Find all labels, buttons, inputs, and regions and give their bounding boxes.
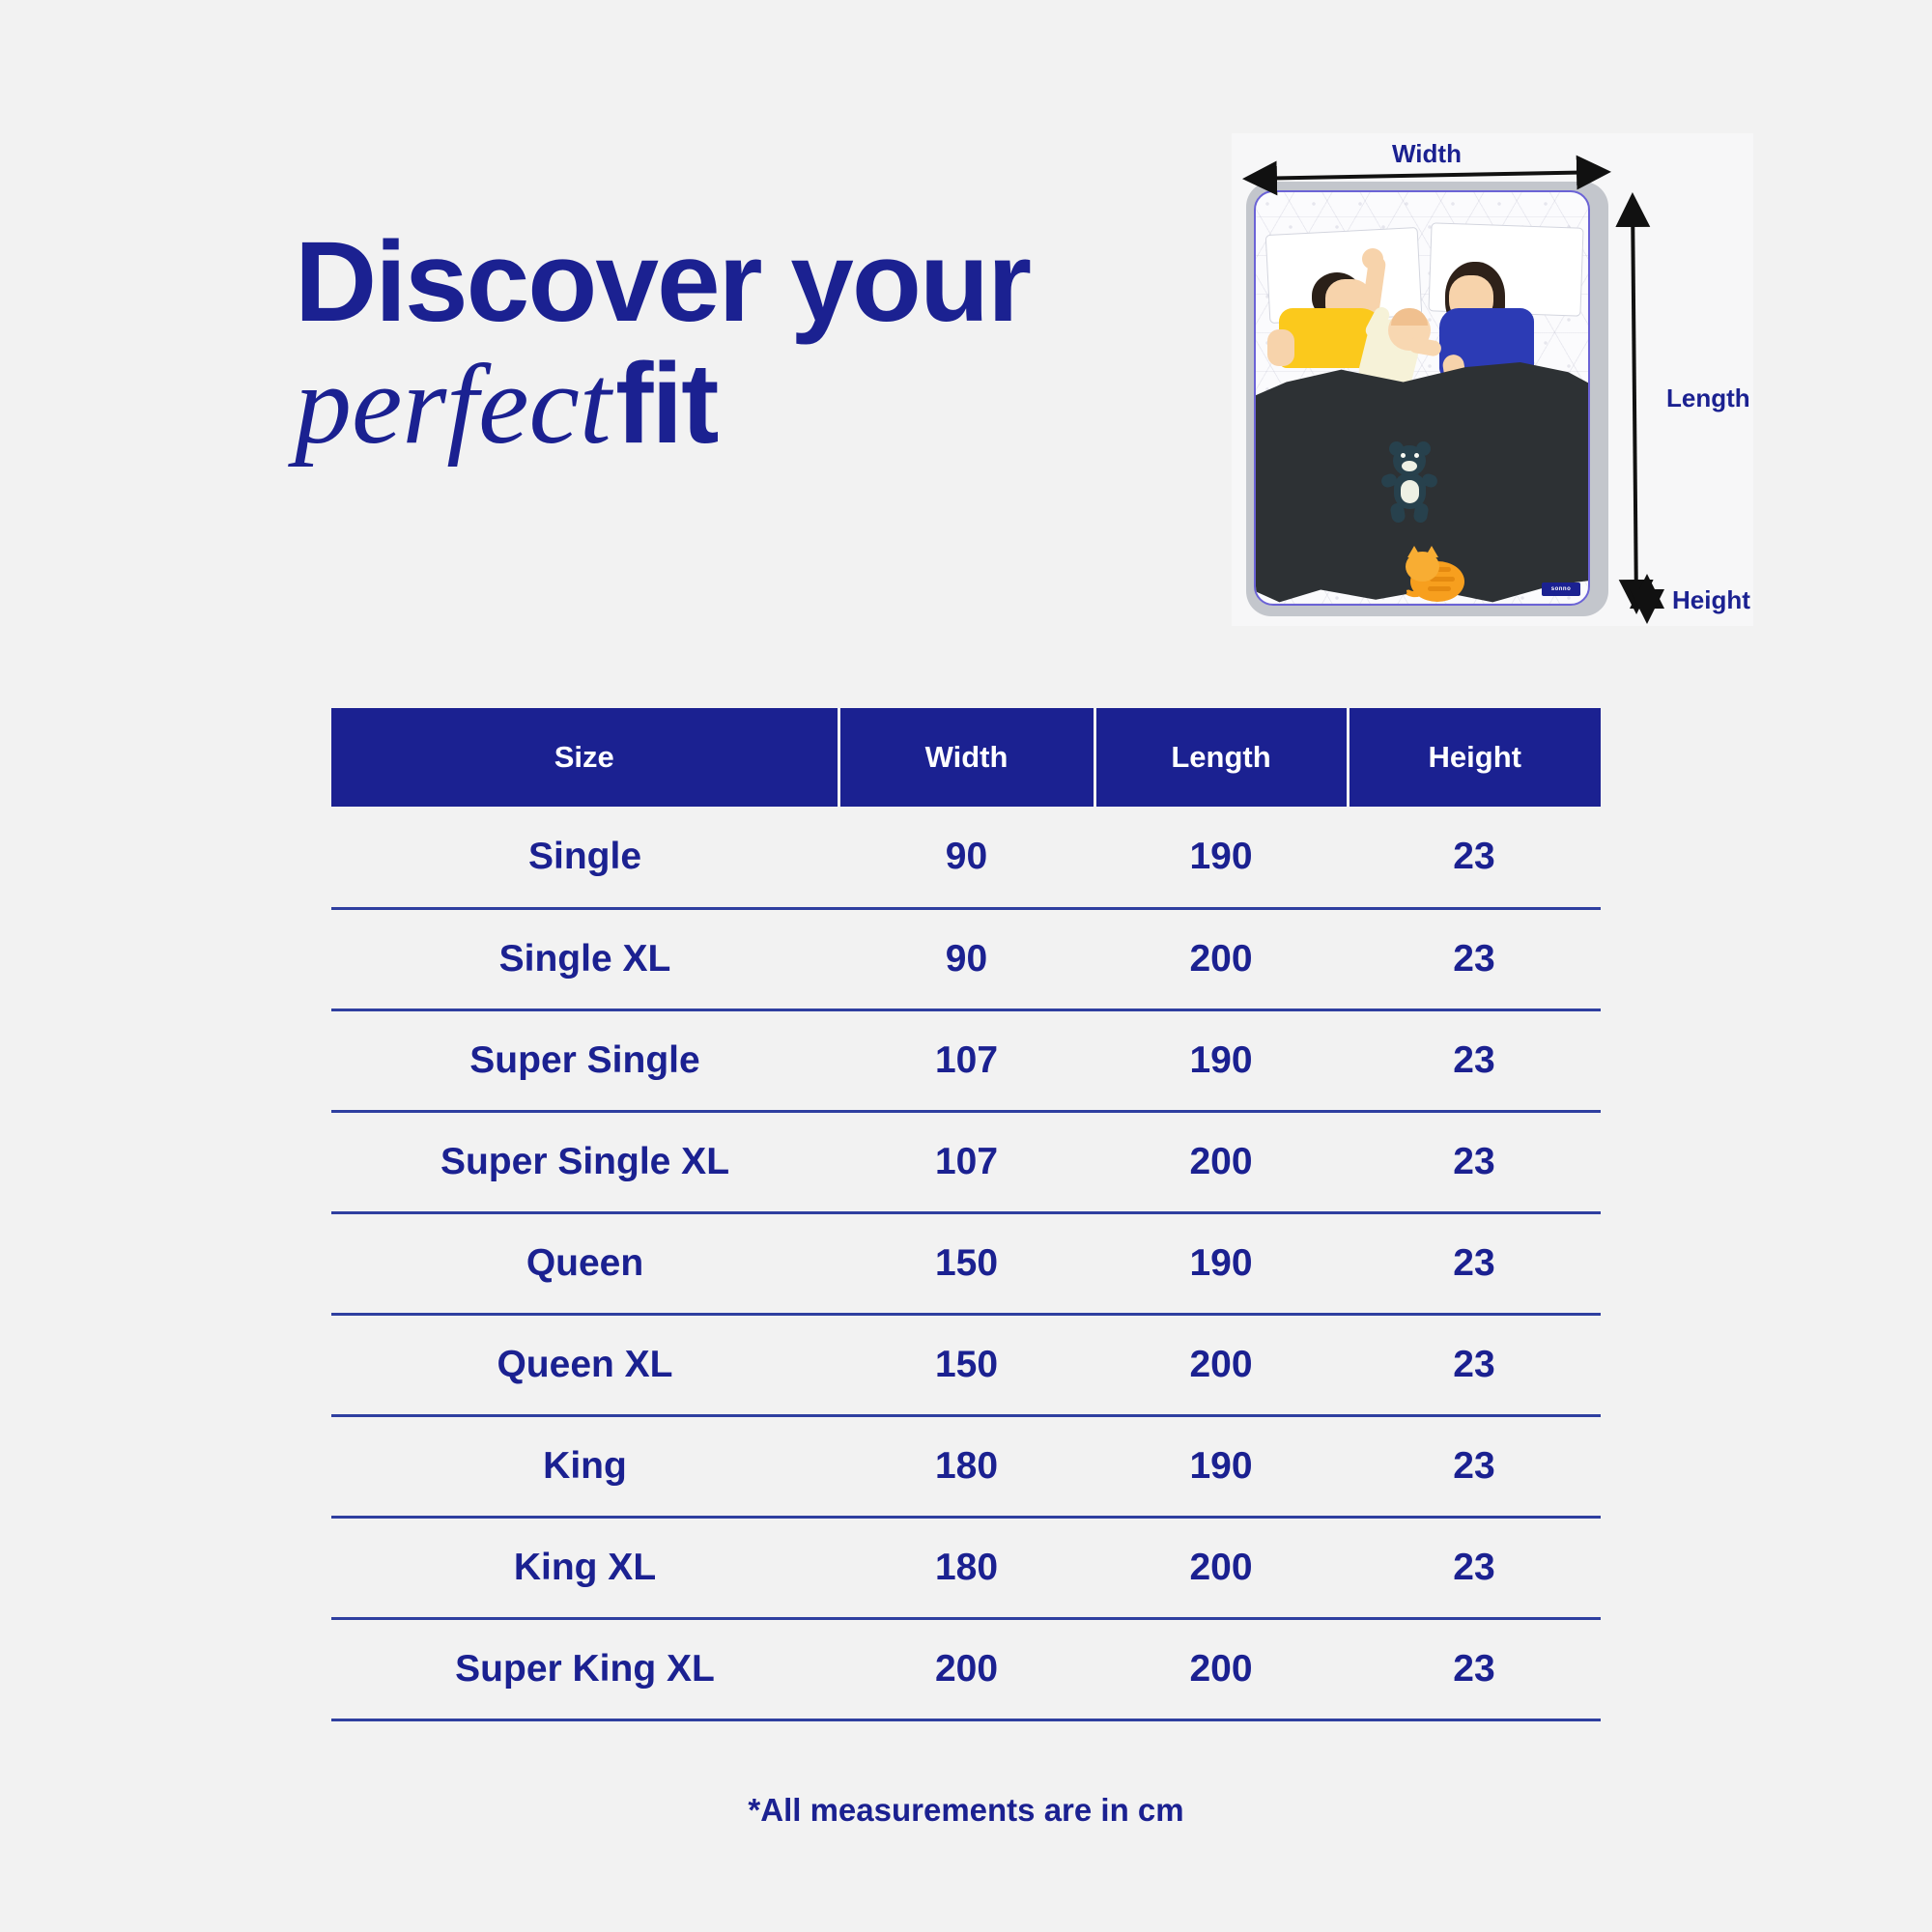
size-table-body: Single9019023Single XL9020023Super Singl… [331, 807, 1601, 1719]
teddy-eye-left [1401, 453, 1406, 458]
width-cell: 200 [838, 1618, 1094, 1719]
size-cell: Queen [331, 1212, 838, 1314]
width-cell: 90 [838, 807, 1094, 908]
size-cell: Single XL [331, 908, 838, 1009]
teddy-belly [1401, 480, 1419, 503]
length-cell: 200 [1094, 908, 1348, 1009]
page-title-word-fit: fit [615, 340, 717, 468]
table-row: King XL18020023 [331, 1517, 1601, 1618]
height-cell: 23 [1348, 1517, 1601, 1618]
height-cell: 23 [1348, 908, 1601, 1009]
width-cell: 90 [838, 908, 1094, 1009]
size-cell: King XL [331, 1517, 838, 1618]
page-title-word-perfect: perfect [295, 341, 611, 468]
table-row: Single9019023 [331, 807, 1601, 908]
column-header-size: Size [331, 708, 838, 807]
width-cell: 107 [838, 1111, 1094, 1212]
teddy-eye-right [1414, 453, 1419, 458]
brand-logo-chip: sonno [1542, 582, 1580, 596]
size-cell: Super Single XL [331, 1111, 838, 1212]
person-left-hand [1362, 248, 1383, 270]
column-header-length: Length [1094, 708, 1348, 807]
length-cell: 200 [1094, 1314, 1348, 1415]
length-cell: 200 [1094, 1618, 1348, 1719]
height-cell: 23 [1348, 1009, 1601, 1111]
cat-head [1406, 552, 1439, 582]
width-label: Width [1392, 139, 1462, 169]
column-header-width: Width [838, 708, 1094, 807]
mattress-surface: sonno [1254, 190, 1590, 606]
table-row: Queen15019023 [331, 1212, 1601, 1314]
height-cell: 23 [1348, 1111, 1601, 1212]
width-cell: 150 [838, 1212, 1094, 1314]
table-row: King18019023 [331, 1415, 1601, 1517]
width-cell: 180 [838, 1415, 1094, 1517]
table-row: Single XL9020023 [331, 908, 1601, 1009]
height-label: Height [1672, 585, 1750, 615]
length-label: Length [1666, 384, 1750, 413]
person-left-lower-arm [1267, 329, 1294, 366]
size-cell: Super Single [331, 1009, 838, 1111]
size-cell: Queen XL [331, 1314, 838, 1415]
mattress-illustration: sonno [1246, 182, 1608, 616]
height-cell: 23 [1348, 1212, 1601, 1314]
page-title-line1: Discover your [295, 224, 1193, 340]
column-header-height: Height [1348, 708, 1601, 807]
height-cell: 23 [1348, 1415, 1601, 1517]
length-cell: 200 [1094, 1111, 1348, 1212]
size-table-head: Size Width Length Height [331, 708, 1601, 807]
table-row: Super Single XL10720023 [331, 1111, 1601, 1212]
height-cell: 23 [1348, 1618, 1601, 1719]
page-title: Discover your perfect fit [295, 224, 1193, 464]
size-cell: King [331, 1415, 838, 1517]
table-row: Super Single10719023 [331, 1009, 1601, 1111]
table-row: Super King XL20020023 [331, 1618, 1601, 1719]
height-cell: 23 [1348, 1314, 1601, 1415]
width-cell: 180 [838, 1517, 1094, 1618]
measurements-footnote: *All measurements are in cm [331, 1792, 1601, 1829]
length-cell: 190 [1094, 1212, 1348, 1314]
length-cell: 190 [1094, 1415, 1348, 1517]
size-table-container: Size Width Length Height Single9019023Si… [331, 708, 1601, 1721]
width-cell: 107 [838, 1009, 1094, 1111]
size-guide-page: Discover your perfect fit [0, 0, 1932, 1932]
length-cell: 200 [1094, 1517, 1348, 1618]
length-cell: 190 [1094, 807, 1348, 908]
page-title-line2: perfect fit [295, 346, 1193, 463]
size-table: Size Width Length Height Single9019023Si… [331, 708, 1601, 1721]
table-row: Queen XL15020023 [331, 1314, 1601, 1415]
teddy-snout [1402, 461, 1417, 471]
cat-stripe-3 [1428, 586, 1451, 591]
table-header-row: Size Width Length Height [331, 708, 1601, 807]
size-cell: Single [331, 807, 838, 908]
height-cell: 23 [1348, 807, 1601, 908]
width-cell: 150 [838, 1314, 1094, 1415]
length-cell: 190 [1094, 1009, 1348, 1111]
size-cell: Super King XL [331, 1618, 838, 1719]
